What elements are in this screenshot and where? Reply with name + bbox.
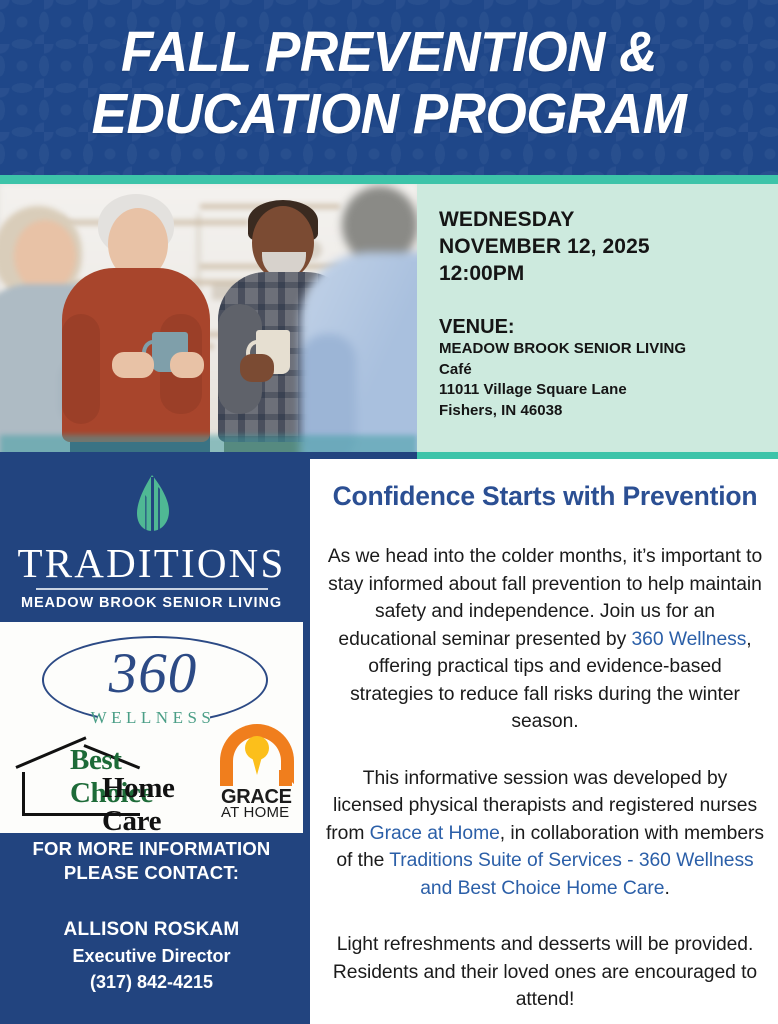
teal-divider-bottom: [417, 452, 778, 459]
event-day: WEDNESDAY: [439, 207, 778, 234]
event-date: NOVEMBER 12, 2025: [439, 234, 778, 261]
contact-heading-line1: FOR MORE INFORMATION: [0, 837, 303, 861]
grace-at-home-logo: GRACE AT HOME: [218, 724, 296, 822]
grace-line2: AT HOME: [221, 804, 289, 821]
sidebar-divider: [303, 459, 310, 1024]
event-details-panel: WEDNESDAY NOVEMBER 12, 2025 12:00PM VENU…: [417, 184, 778, 459]
partner-logos-panel: 360 WELLNESS Best Choice Home Care GRACE: [0, 622, 303, 833]
navy-strip-under-photo: [0, 452, 417, 459]
contact-phone[interactable]: (317) 842-4215: [0, 969, 303, 995]
best-choice-line2: Home Care: [102, 772, 210, 838]
best-choice-home-care-logo: Best Choice Home Care: [14, 730, 210, 822]
venue-name: MEADOW BROOK SENIOR LIVING: [439, 339, 778, 360]
venue-city: Fishers, IN 46038: [439, 401, 778, 422]
leaf-icon: [129, 475, 175, 535]
paragraph-3: Light refreshments and desserts will be …: [326, 931, 764, 1014]
traditions-logo: TRADITIONS MEADOW BROOK SENIOR LIVING: [0, 467, 303, 619]
paragraph-1: As we head into the colder months, it’s …: [326, 543, 764, 736]
traditions-tagline: MEADOW BROOK SENIOR LIVING: [21, 595, 282, 611]
link-360-wellness[interactable]: 360 Wellness: [632, 629, 747, 650]
paragraph-2: This informative session was developed b…: [326, 765, 764, 903]
sidebar: TRADITIONS MEADOW BROOK SENIOR LIVING 36…: [0, 459, 310, 1024]
venue-label: VENUE:: [439, 315, 778, 339]
venue-room: Café: [439, 360, 778, 381]
header-banner: FALL PREVENTION & EDUCATION PROGRAM: [0, 0, 778, 175]
contact-name: ALLISON ROSKAM: [0, 917, 303, 943]
page-title-line-1: FALL PREVENTION &: [27, 21, 751, 83]
link-grace-at-home[interactable]: Grace at Home: [370, 823, 500, 844]
contact-block: FOR MORE INFORMATION PLEASE CONTACT: ALL…: [0, 837, 303, 995]
main-content: Confidence Starts with Prevention As we …: [310, 459, 778, 1024]
traditions-wordmark: TRADITIONS: [18, 541, 286, 585]
contact-role: Executive Director: [0, 943, 303, 969]
traditions-rule: [36, 588, 268, 590]
grace-drop-icon: [245, 736, 269, 760]
photo-and-event-row: WEDNESDAY NOVEMBER 12, 2025 12:00PM VENU…: [0, 184, 778, 459]
teal-divider-top: [0, 175, 778, 184]
section-heading: Confidence Starts with Prevention: [326, 480, 764, 512]
page-title-line-2: EDUCATION PROGRAM: [27, 83, 751, 145]
venue-street: 11011 Village Square Lane: [439, 380, 778, 401]
flyer-page: FALL PREVENTION & EDUCATION PROGRAM: [0, 0, 778, 1024]
paragraph-2-part-3: .: [664, 878, 669, 899]
contact-heading-line2: PLEASE CONTACT:: [0, 861, 303, 885]
wellness-360-logo: 360 WELLNESS: [42, 632, 264, 732]
link-traditions-suite-of-services[interactable]: Traditions Suite of Services - 360 Welln…: [389, 850, 753, 899]
event-time: 12:00PM: [439, 260, 778, 287]
wellness-360-number: 360: [42, 638, 264, 710]
seniors-photo: [0, 184, 417, 459]
page-title: FALL PREVENTION & EDUCATION PROGRAM: [27, 0, 751, 145]
